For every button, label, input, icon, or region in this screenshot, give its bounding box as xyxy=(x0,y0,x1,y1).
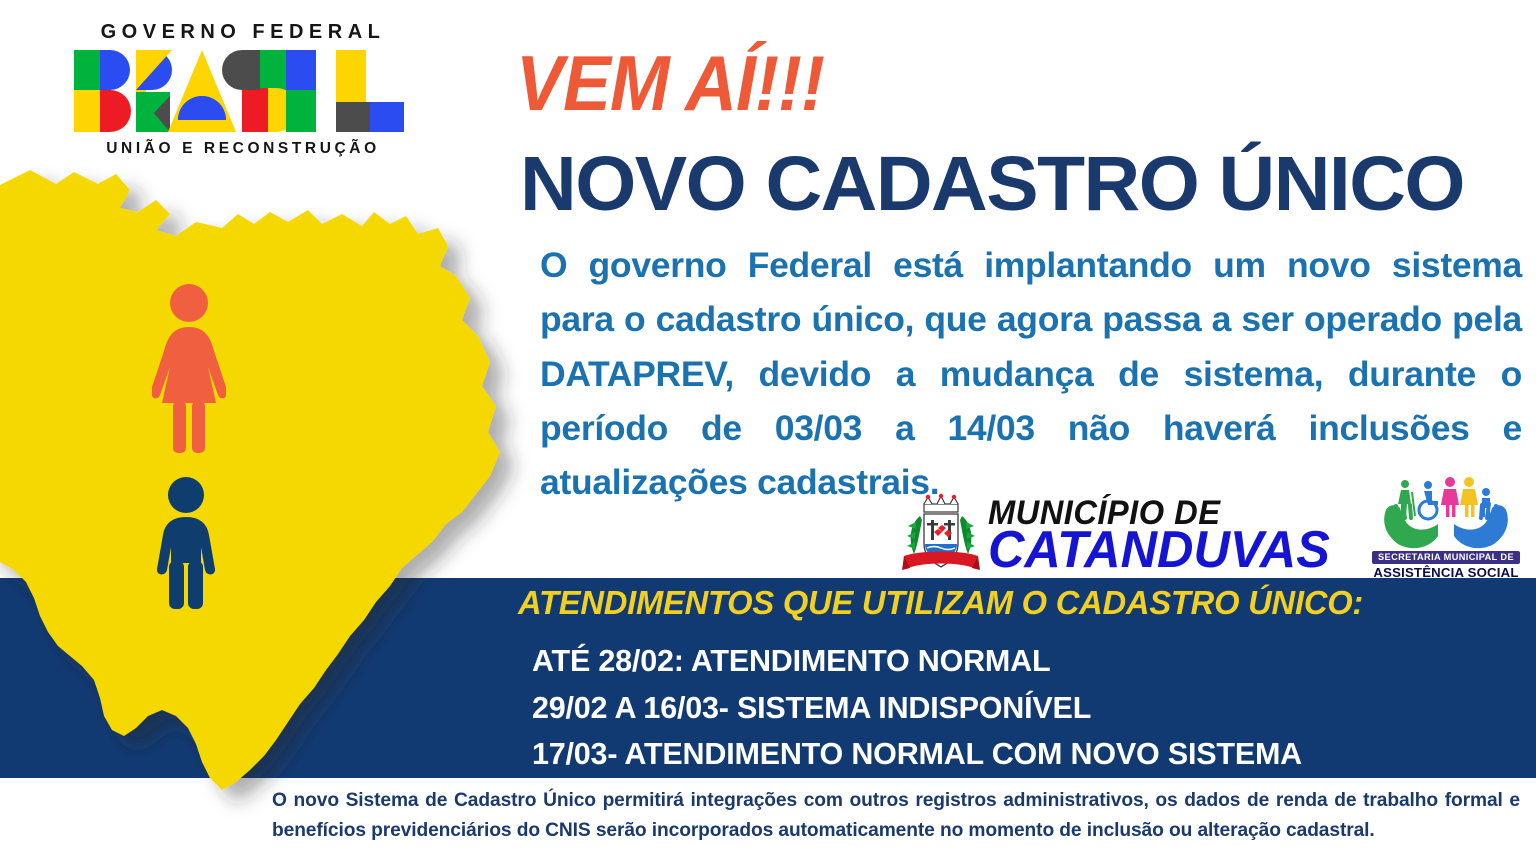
gov-federal-bottom-text: UNIÃO E RECONSTRUÇÃO xyxy=(74,141,412,157)
kicker-vem-ai: VEM AÍ!!! xyxy=(516,44,824,122)
page-title: NOVO CADASTRO ÚNICO xyxy=(520,146,1464,223)
assistencia-social-logo: SECRETARIA MUNICIPAL DE ASSISTÊNCIA SOCI… xyxy=(1372,474,1520,580)
band-title: ATENDIMENTOS QUE UTILIZAM O CADASTRO ÚNI… xyxy=(518,586,1363,619)
municipality-line2: CATANDUVAS xyxy=(988,526,1330,575)
footer-note: O novo Sistema de Cadastro Único permiti… xyxy=(272,786,1520,846)
body-paragraph-text: O governo Federal está implantando um no… xyxy=(540,245,1522,502)
schedule-list: ATÉ 28/02: ATENDIMENTO NORMAL 29/02 A 16… xyxy=(532,638,1302,778)
body-paragraph: O governo Federal está implantando um no… xyxy=(540,238,1522,510)
secretariat-main-text: ASSISTÊNCIA SOCIAL xyxy=(1372,566,1520,580)
secretariat-bar-text: SECRETARIA MUNICIPAL DE xyxy=(1372,551,1520,564)
coat-of-arms-icon xyxy=(900,492,982,580)
brazil-map xyxy=(0,150,530,800)
woman-figure-icon xyxy=(148,283,230,453)
schedule-item: ATÉ 28/02: ATENDIMENTO NORMAL xyxy=(532,638,1302,685)
man-figure-icon xyxy=(145,477,227,609)
municipality-logo: MUNICÍPIO DE CATANDUVAS xyxy=(900,492,1340,580)
schedule-item: 29/02 A 16/03- SISTEMA INDISPONÍVEL xyxy=(532,685,1302,732)
helping-hands-people-icon xyxy=(1372,474,1520,552)
poster-canvas: GOVERNO FEDERAL xyxy=(0,0,1536,864)
brasil-wordmark-icon xyxy=(74,50,410,132)
gov-federal-top-text: GOVERNO FEDERAL xyxy=(74,22,412,42)
schedule-item: 17/03- ATENDIMENTO NORMAL COM NOVO SISTE… xyxy=(532,731,1302,778)
governo-federal-logo: GOVERNO FEDERAL xyxy=(72,22,412,157)
